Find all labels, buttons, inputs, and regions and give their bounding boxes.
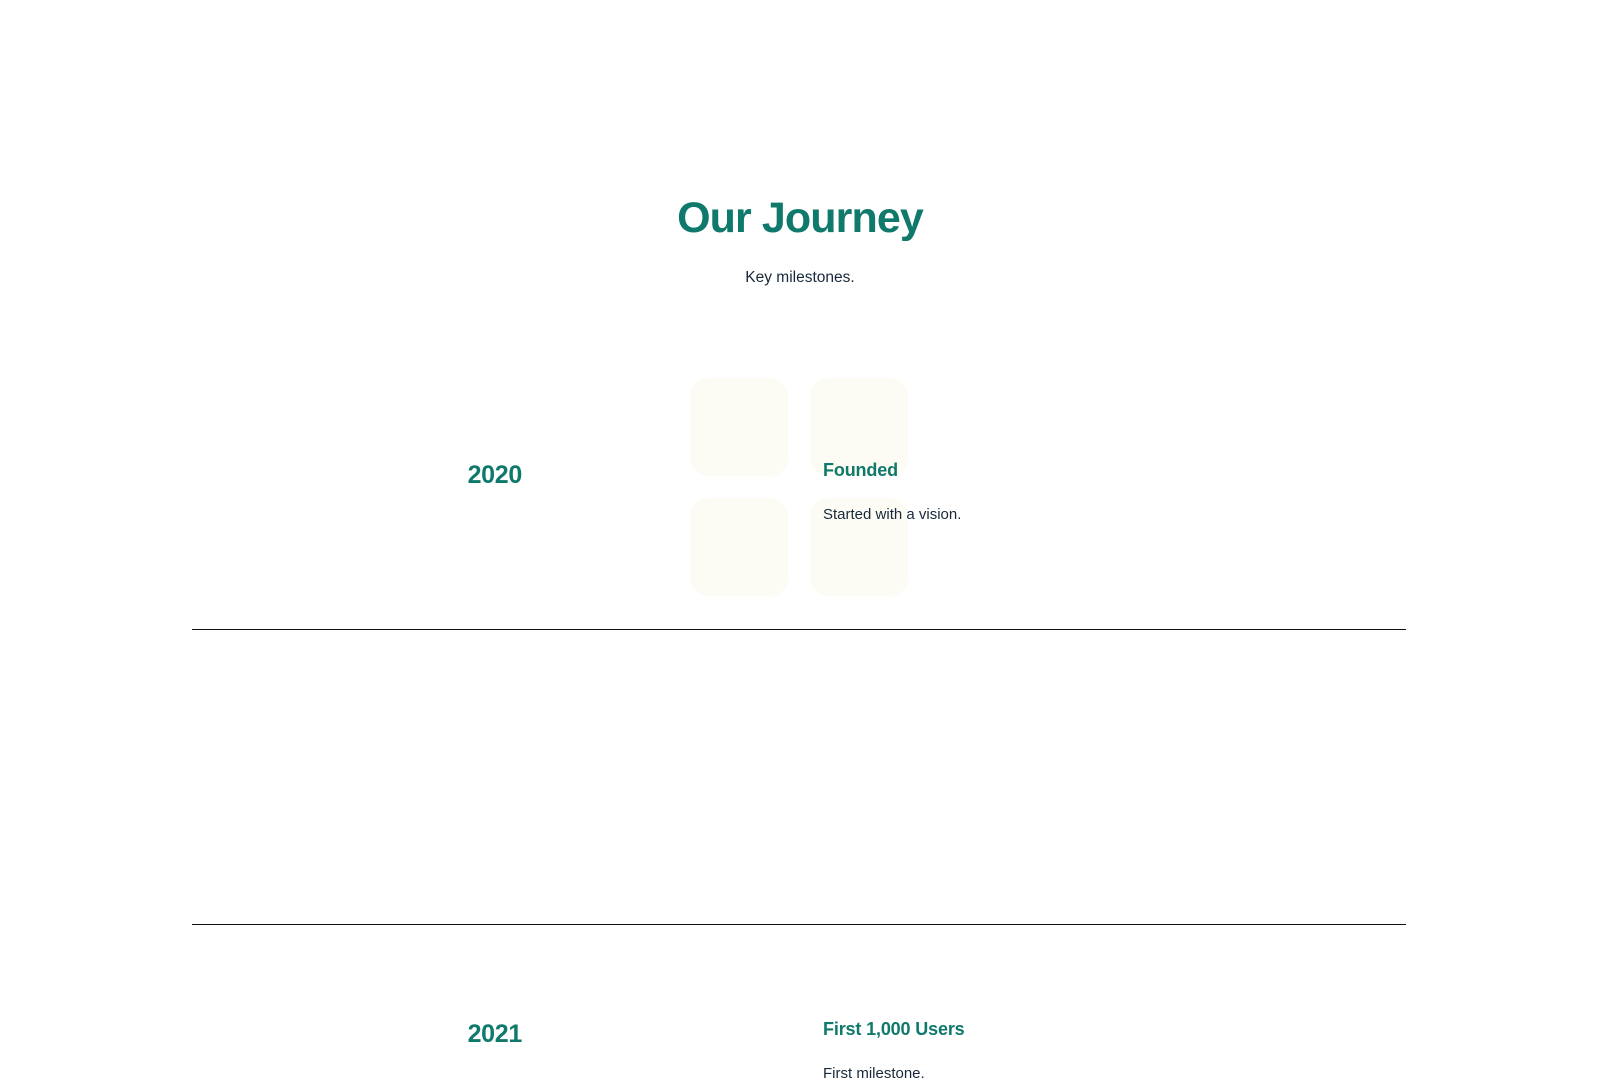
timeline-year-2020: 2020 [192,460,522,490]
media-tile-1 [690,378,788,476]
timeline-row: 2021 First 1,000 Users First milestone. [192,630,1406,925]
media-tile-3 [690,498,788,596]
timeline-row: 2020 Founded Started with a vision. [192,340,1406,630]
timeline-entry-description: First milestone. [823,1063,1383,1085]
timeline-entry-description: Started with a vision. [823,504,1383,526]
timeline-year-2021: 2021 [192,1019,522,1049]
timeline-entry-content: Founded Started with a vision. [823,458,1383,526]
timeline-entry-title: Founded [823,458,1383,482]
timeline-entry-content: First 1,000 Users First milestone. [823,1017,1383,1085]
timeline: 2020 Founded Started with a vision. 2021… [192,340,1406,925]
page-title: Our Journey [0,192,1600,244]
timeline-entry-title: First 1,000 Users [823,1017,1383,1041]
page-subtitle: Key milestones. [0,267,1600,289]
